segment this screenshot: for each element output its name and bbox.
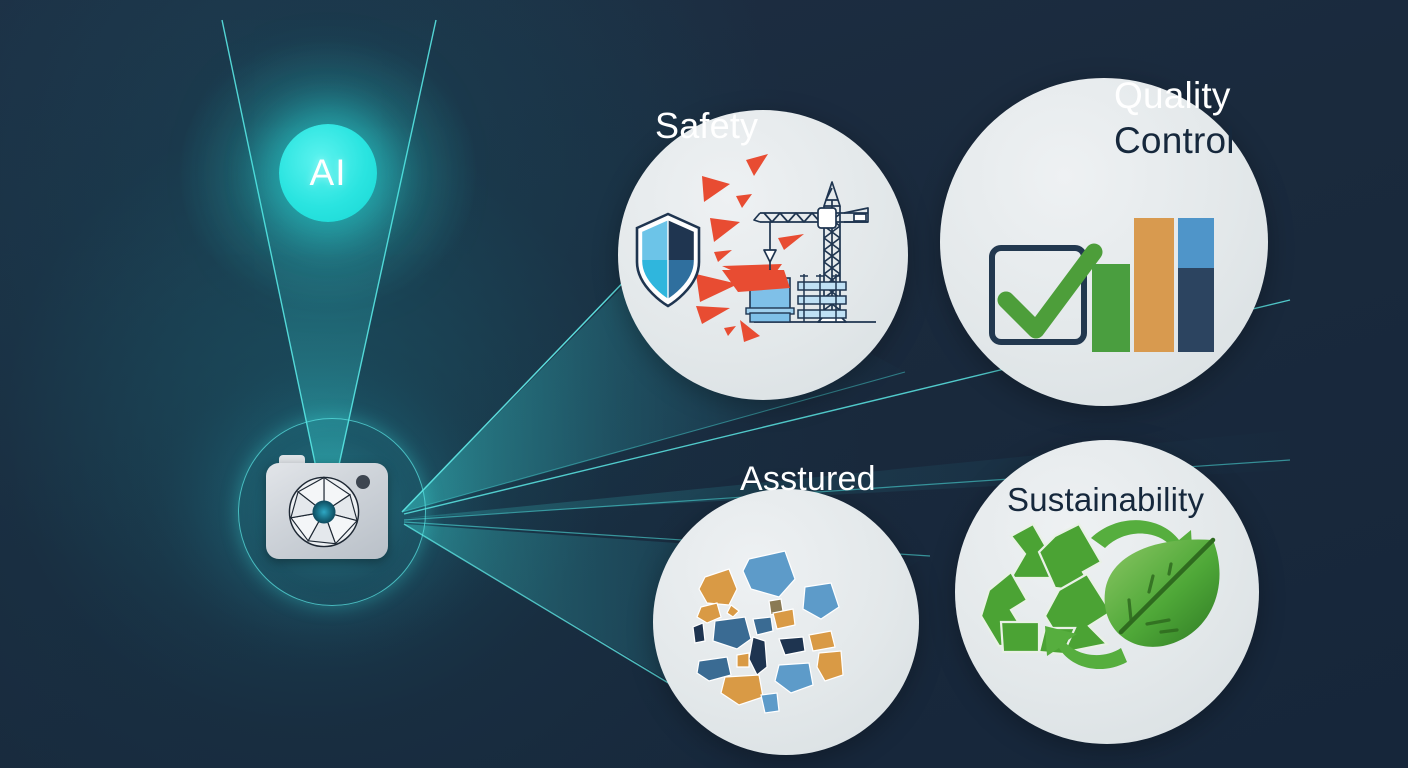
aperture-icon <box>288 476 360 548</box>
feature-label-control: Control <box>1114 120 1235 162</box>
aggregate-particles-icon <box>653 489 919 755</box>
feature-label-sustainability: Sustainability <box>1007 481 1204 519</box>
feature-label-quality: Quality <box>1114 75 1231 117</box>
ai-node-label: AI <box>310 152 347 194</box>
ai-node[interactable]: AI <box>279 124 377 222</box>
camera-node[interactable] <box>238 418 430 610</box>
feature-circle-safety[interactable] <box>618 110 908 400</box>
feature-circle-assured[interactable] <box>653 489 919 755</box>
infographic-canvas: AI <box>0 0 1408 768</box>
feature-label-assured: Asstured <box>740 460 876 499</box>
feature-label-safety: Safety <box>655 105 758 147</box>
shield-crane-hazard-icon <box>618 110 908 400</box>
